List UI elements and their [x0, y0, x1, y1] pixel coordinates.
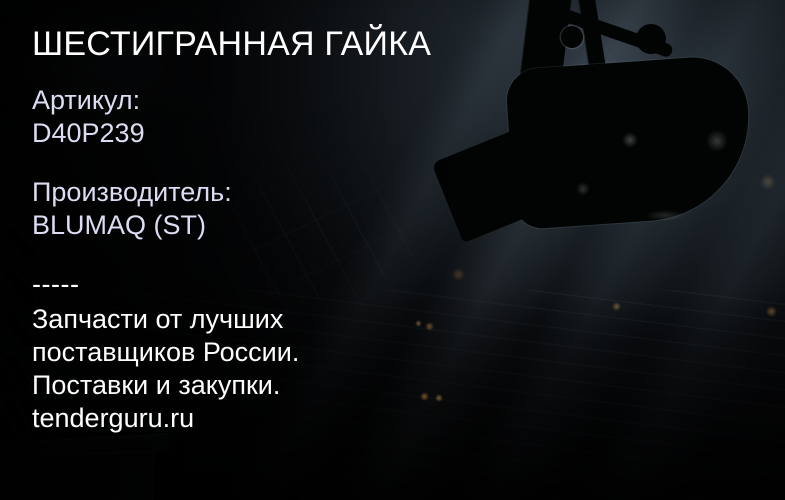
product-title: ШЕСТИГРАННАЯ ГАЙКА: [32, 24, 431, 64]
article-value: D40P239: [32, 117, 145, 150]
banner-content: ШЕСТИГРАННАЯ ГАЙКА Артикул: D40P239 Прои…: [0, 0, 785, 500]
promo-line-3: Поставки и закупки.: [32, 369, 299, 402]
text-divider: -----: [32, 268, 79, 301]
product-banner: ШЕСТИГРАННАЯ ГАЙКА Артикул: D40P239 Прои…: [0, 0, 785, 500]
promo-block: Запчасти от лучших поставщиков России. П…: [32, 303, 299, 435]
manufacturer-label: Производитель:: [32, 177, 232, 207]
manufacturer-value: BLUMAQ (ST): [32, 209, 232, 242]
article-field: Артикул: D40P239: [32, 84, 145, 150]
promo-website-url[interactable]: tenderguru.ru: [32, 402, 299, 435]
manufacturer-field: Производитель: BLUMAQ (ST): [32, 176, 232, 242]
promo-line-2: поставщиков России.: [32, 336, 299, 369]
article-label: Артикул:: [32, 85, 140, 115]
promo-line-1: Запчасти от лучших: [32, 303, 299, 336]
